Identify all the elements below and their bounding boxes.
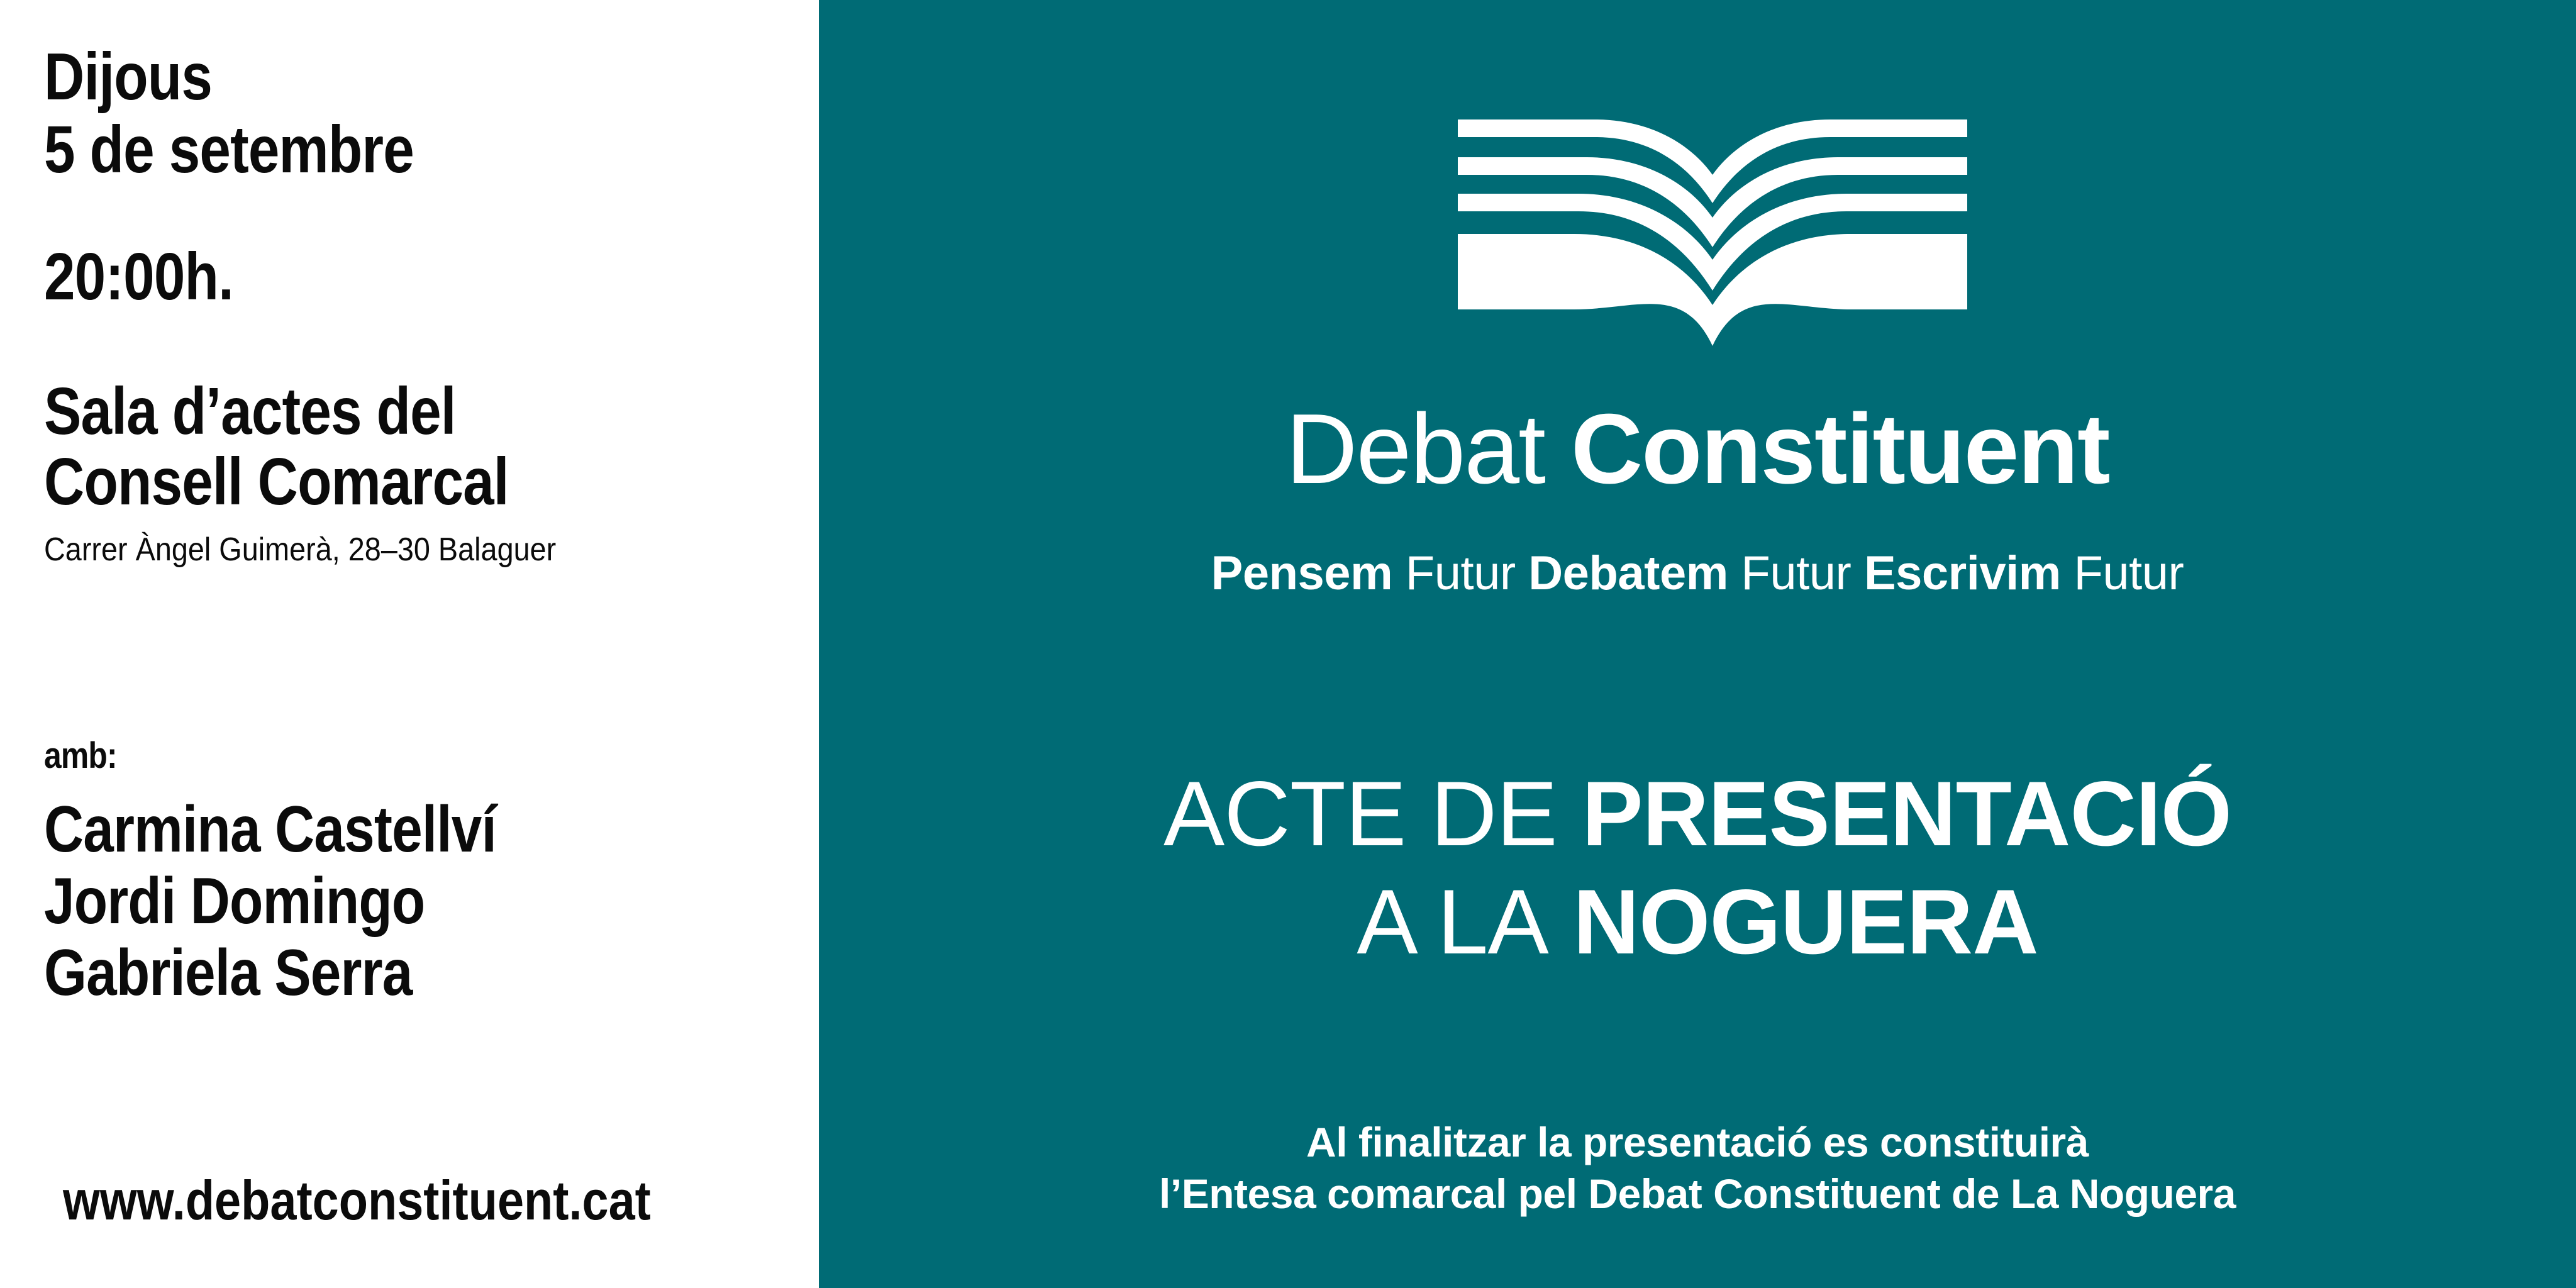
brand-word-bold: Constituent <box>1571 394 2109 504</box>
headline-light-part: A LA <box>1357 870 1548 973</box>
event-time: 20:00h. <box>44 239 233 315</box>
tagline-word: Escrivim <box>1864 547 2061 600</box>
event-weekday: Dijous <box>44 39 212 115</box>
speaker-name: Jordi Domingo <box>44 864 425 939</box>
event-date: 5 de setembre <box>44 112 414 188</box>
headline-bold-part: NOGUERA <box>1573 870 2038 973</box>
headline-bold-part: PRESENTACIÓ <box>1582 762 2231 865</box>
venue-name-line-1: Sala d’actes del <box>44 374 456 450</box>
website-url[interactable]: www.debatconstituent.cat <box>63 1169 651 1233</box>
speaker-name: Carmina Castellví <box>44 792 496 867</box>
headline-line-1: ACTE DE PRESENTACIÓ <box>819 761 2576 867</box>
brand-title: Debat Constituent <box>819 392 2576 506</box>
speaker-name: Gabriela Serra <box>44 936 413 1011</box>
headline-light-part: ACTE DE <box>1163 762 1557 865</box>
speakers-label: amb: <box>44 735 117 777</box>
open-book-icon <box>1458 101 1967 352</box>
poster-canvas: Dijous 5 de setembre 20:00h. Sala d’acte… <box>0 0 2576 1288</box>
tagline-word: Futur <box>1741 547 1851 600</box>
brand-tagline: Pensem Futur Debatem Futur Escrivim Futu… <box>819 546 2576 601</box>
tagline-word: Futur <box>2074 547 2184 600</box>
event-details-panel: Dijous 5 de setembre 20:00h. Sala d’acte… <box>0 0 819 1288</box>
tagline-word: Pensem <box>1211 547 1393 600</box>
venue-address: Carrer Àngel Guimerà, 28–30 Balaguer <box>44 531 556 569</box>
tagline-word: Debatem <box>1528 547 1728 600</box>
headline-line-2: A LA NOGUERA <box>819 869 2576 975</box>
footnote-line-2: l’Entesa comarcal pel Debat Constituent … <box>819 1170 2576 1218</box>
branding-panel: Debat Constituent Pensem Futur Debatem F… <box>819 0 2576 1288</box>
footnote-line-1: Al finalitzar la presentació es constitu… <box>819 1118 2576 1166</box>
venue-name-line-2: Consell Comarcal <box>44 444 509 520</box>
brand-word-light: Debat <box>1285 394 1545 504</box>
tagline-word: Futur <box>1406 547 1516 600</box>
